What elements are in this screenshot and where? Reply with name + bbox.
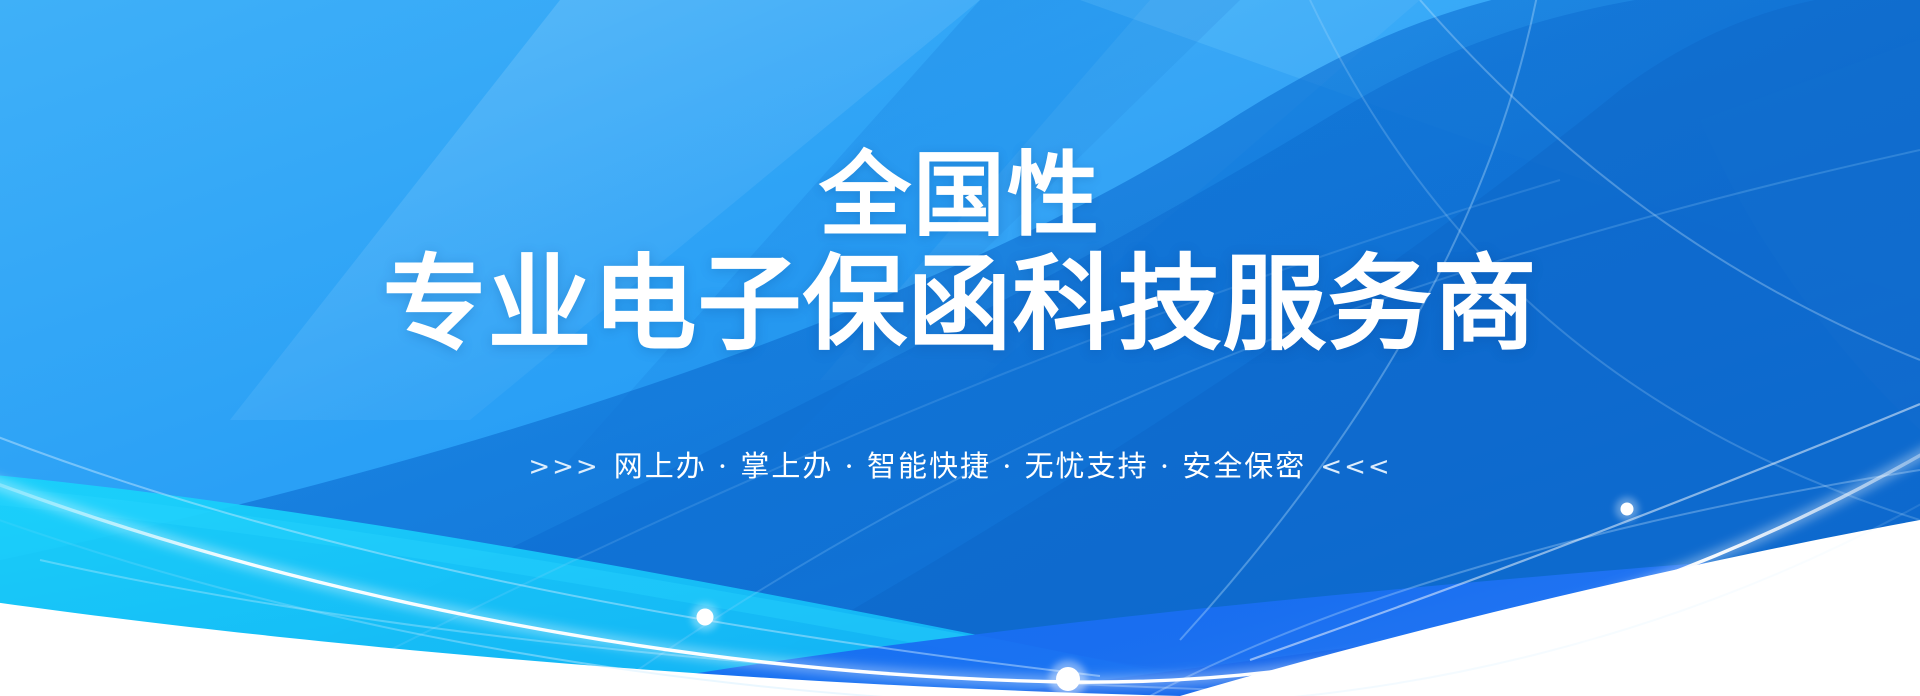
- subtitle-row: >>> 网上办 · 掌上办 · 智能快捷 · 无忧支持 · 安全保密 <<<: [0, 452, 1920, 481]
- hero-banner: 全国性 专业电子保函科技服务商 >>> 网上办 · 掌上办 · 智能快捷 · 无…: [0, 0, 1920, 696]
- headline-line-1: 全国性: [0, 150, 1920, 242]
- subtitle-text: 网上办 · 掌上办 · 智能快捷 · 无忧支持 · 安全保密: [614, 452, 1307, 481]
- headline-line-2: 专业电子保函科技服务商: [0, 252, 1920, 356]
- subtitle-right-arrows-icon: <<<: [1320, 454, 1391, 480]
- banner-content: 全国性 专业电子保函科技服务商 >>> 网上办 · 掌上办 · 智能快捷 · 无…: [0, 0, 1920, 696]
- subtitle-left-arrows-icon: >>>: [528, 454, 599, 480]
